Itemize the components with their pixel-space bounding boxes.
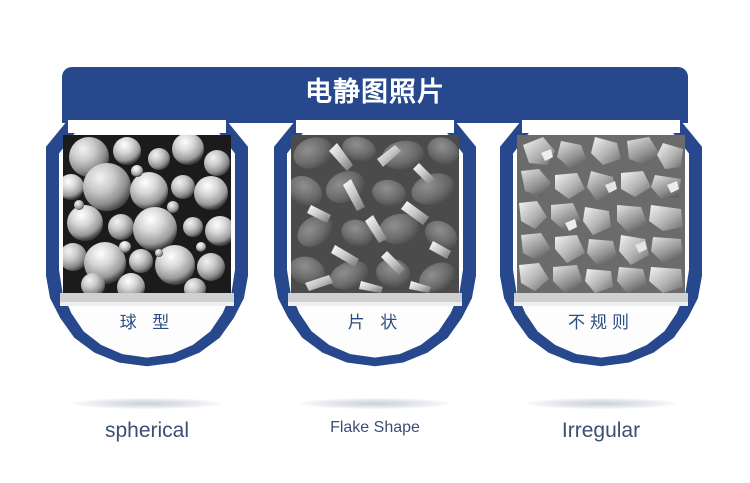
- sem-micrograph-flake-powder: [291, 135, 459, 293]
- card-spherical[interactable]: 球 型: [46, 122, 248, 370]
- caption-block-irregular: Irregular: [500, 398, 702, 443]
- card-shelf: [60, 293, 234, 302]
- card-irregular[interactable]: 不规则: [500, 122, 702, 370]
- sem-micrograph-irregular-powder: [517, 135, 685, 293]
- caption-block-spherical: spherical: [46, 398, 248, 443]
- shadow-ellipse-icon: [72, 398, 222, 409]
- infographic-canvas: 电静图照片: [0, 0, 750, 483]
- card-top-notch: [296, 120, 454, 133]
- sem-micrograph-spherical-powder: [63, 135, 231, 293]
- page-title: 电静图照片: [62, 73, 688, 113]
- card-en-label: Irregular: [500, 419, 702, 443]
- header-banner: 电静图照片: [62, 67, 688, 123]
- caption-block-flake: Flake Shape: [274, 398, 476, 437]
- card-top-notch: [522, 120, 680, 133]
- card-cn-label: 不规则: [500, 308, 702, 333]
- card-en-label: spherical: [46, 419, 248, 443]
- card-flake[interactable]: 片 状: [274, 122, 476, 370]
- card-shelf: [514, 293, 688, 302]
- card-shelf: [288, 293, 462, 302]
- card-cn-label: 片 状: [274, 308, 476, 333]
- card-cn-label: 球 型: [46, 308, 248, 333]
- shadow-ellipse-icon: [300, 398, 450, 409]
- card-en-label: Flake Shape: [274, 419, 476, 437]
- shadow-ellipse-icon: [526, 398, 676, 409]
- card-top-notch: [68, 120, 226, 133]
